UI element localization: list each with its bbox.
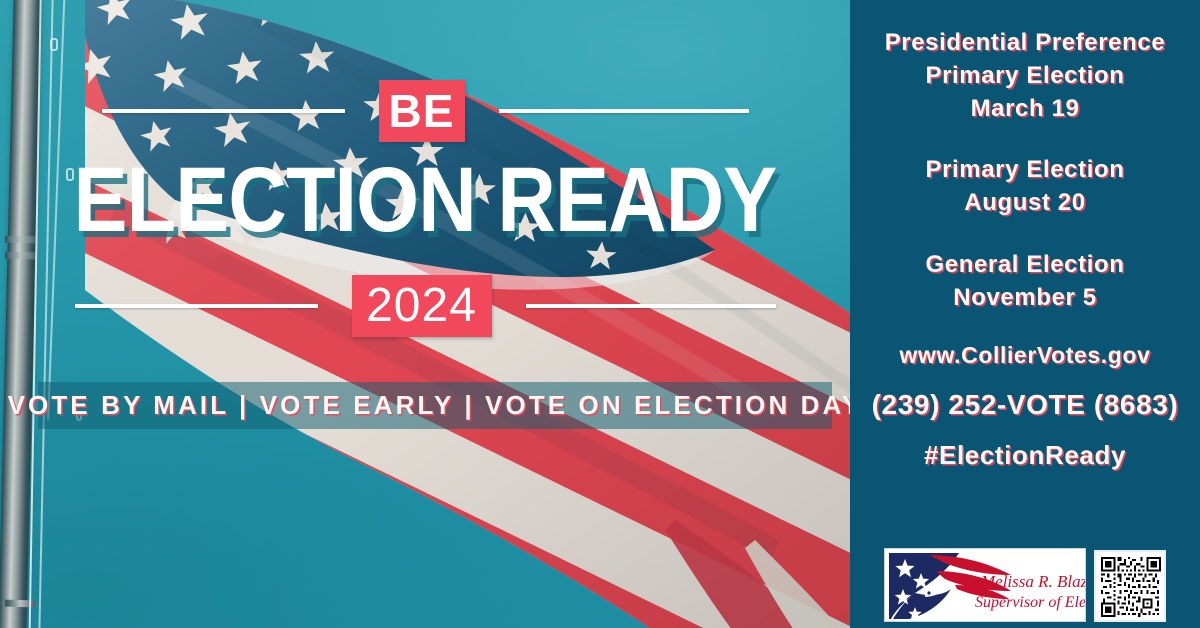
spacer: [850, 220, 1200, 248]
spacer: [850, 125, 1200, 153]
eagle-flag-icon: Melissa R. Blazier Supervisor of Electio…: [885, 549, 1086, 622]
election-name-line1: Primary Election: [850, 153, 1200, 186]
kicker-chip: BE: [379, 80, 465, 142]
election-name-line1: General Election: [850, 248, 1200, 281]
vote-methods-banner: VOTE BY MAIL | VOTE EARLY | VOTE ON ELEC…: [38, 382, 832, 429]
phone-number[interactable]: (239) 252-VOTE (8683): [850, 386, 1200, 425]
svg-text:Supervisor of Elections: Supervisor of Elections: [975, 594, 1086, 611]
election-date: August 20: [850, 186, 1200, 219]
kicker-row: BE: [0, 80, 850, 142]
headline-block: BE ELECTION READY 2024 VOTE BY MAIL | VO…: [0, 0, 850, 628]
supervisor-of-elections-logo: Melissa R. Blazier Supervisor of Electio…: [884, 548, 1086, 622]
election-dates-list: Presidential Preference Primary Election…: [850, 26, 1200, 474]
spacer: [850, 314, 1200, 340]
website-link[interactable]: www.CollierVotes.gov: [850, 340, 1200, 372]
qr-code-icon: [1101, 557, 1161, 617]
election-date: March 19: [850, 92, 1200, 125]
poster-canvas: BE ELECTION READY 2024 VOTE BY MAIL | VO…: [0, 0, 1200, 628]
election-date: November 5: [850, 281, 1200, 314]
year-row: 2024: [0, 275, 850, 337]
election-item-general: General Election November 5: [850, 248, 1200, 314]
election-name-line2: Primary Election: [850, 59, 1200, 92]
info-panel: Presidential Preference Primary Election…: [850, 0, 1200, 628]
hashtag: #ElectionReady: [850, 438, 1200, 474]
divider-right: [526, 304, 776, 308]
vote-methods-text: VOTE BY MAIL | VOTE EARLY | VOTE ON ELEC…: [8, 390, 850, 421]
flag-photo-panel: BE ELECTION READY 2024 VOTE BY MAIL | VO…: [0, 0, 850, 628]
svg-text:Melissa R. Blazier: Melissa R. Blazier: [980, 572, 1086, 591]
qr-code[interactable]: [1094, 550, 1166, 622]
election-item-primary: Primary Election August 20: [850, 153, 1200, 219]
spacer: [850, 424, 1200, 438]
election-item-presidential-preference: Presidential Preference Primary Election…: [850, 26, 1200, 125]
divider-right: [499, 109, 749, 113]
divider-left: [75, 304, 318, 308]
election-name-line1: Presidential Preference: [850, 26, 1200, 59]
divider-left: [102, 109, 345, 113]
year-chip: 2024: [352, 275, 492, 337]
spacer: [850, 372, 1200, 386]
page-title: ELECTION READY: [51, 155, 799, 245]
brand-row: Melissa R. Blazier Supervisor of Electio…: [850, 548, 1200, 622]
